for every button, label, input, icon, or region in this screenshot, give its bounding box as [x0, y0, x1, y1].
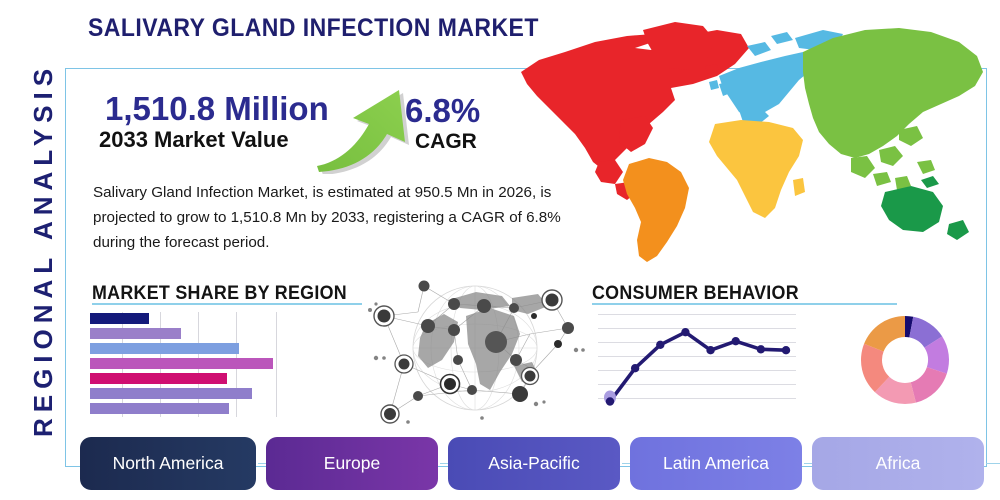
page-title: SALIVARY GLAND INFECTION MARKET	[88, 14, 539, 43]
bar-3	[90, 343, 239, 354]
data-point	[681, 328, 689, 336]
market-value-figure: 1,510.8 Million	[105, 90, 329, 128]
data-point	[782, 346, 790, 354]
data-point	[732, 337, 740, 345]
region-pill-north-america[interactable]: North America	[80, 437, 256, 490]
data-point	[706, 346, 714, 354]
market-share-heading: MARKET SHARE BY REGION	[92, 283, 347, 305]
bar-5	[90, 373, 227, 384]
region-pill-row: North America Europe Asia-Pacific Latin …	[80, 437, 985, 490]
cagr-figure: 6.8%	[405, 92, 480, 130]
consumer-behavior-rule	[592, 303, 897, 305]
cagr-caption: CAGR	[415, 130, 477, 154]
region-pill-europe[interactable]: Europe	[266, 437, 438, 490]
infographic-root: REGIONAL ANALYSIS SALIVARY GLAND INFECTI…	[0, 0, 1000, 500]
market-value-caption: 2033 Market Value	[99, 127, 289, 153]
world-map-icon	[503, 12, 995, 274]
vertical-section-label: REGIONAL ANALYSIS	[23, 40, 63, 460]
market-share-bar-chart	[90, 312, 290, 417]
bar-4	[90, 358, 273, 369]
data-point	[656, 341, 664, 349]
bar-2	[90, 328, 181, 339]
region-pill-asia-pacific[interactable]: Asia-Pacific	[448, 437, 620, 490]
bar-1	[90, 313, 149, 324]
donut-segment	[911, 367, 947, 403]
bar-6	[90, 388, 252, 399]
consumer-behavior-line-chart	[598, 308, 796, 416]
consumer-behavior-heading: CONSUMER BEHAVIOR	[592, 283, 799, 305]
data-point	[606, 397, 614, 405]
region-pill-latin-america[interactable]: Latin America	[630, 437, 802, 490]
global-network-globe-icon	[362, 272, 588, 428]
region-pill-africa[interactable]: Africa	[812, 437, 984, 490]
data-point	[631, 364, 639, 372]
region-pill-label: North America	[113, 453, 224, 474]
region-pill-label: Latin America	[663, 453, 769, 474]
hero-stats: 1,510.8 Million 2033 Market Value 6.8% C…	[95, 90, 515, 170]
region-pill-label: Europe	[324, 453, 380, 474]
data-point	[757, 345, 765, 353]
market-share-rule	[92, 303, 362, 305]
region-pill-label: Africa	[876, 453, 921, 474]
bar-7	[90, 403, 229, 414]
donut-segment	[864, 316, 905, 352]
regional-donut-chart	[855, 308, 955, 413]
region-pill-label: Asia-Pacific	[488, 453, 579, 474]
